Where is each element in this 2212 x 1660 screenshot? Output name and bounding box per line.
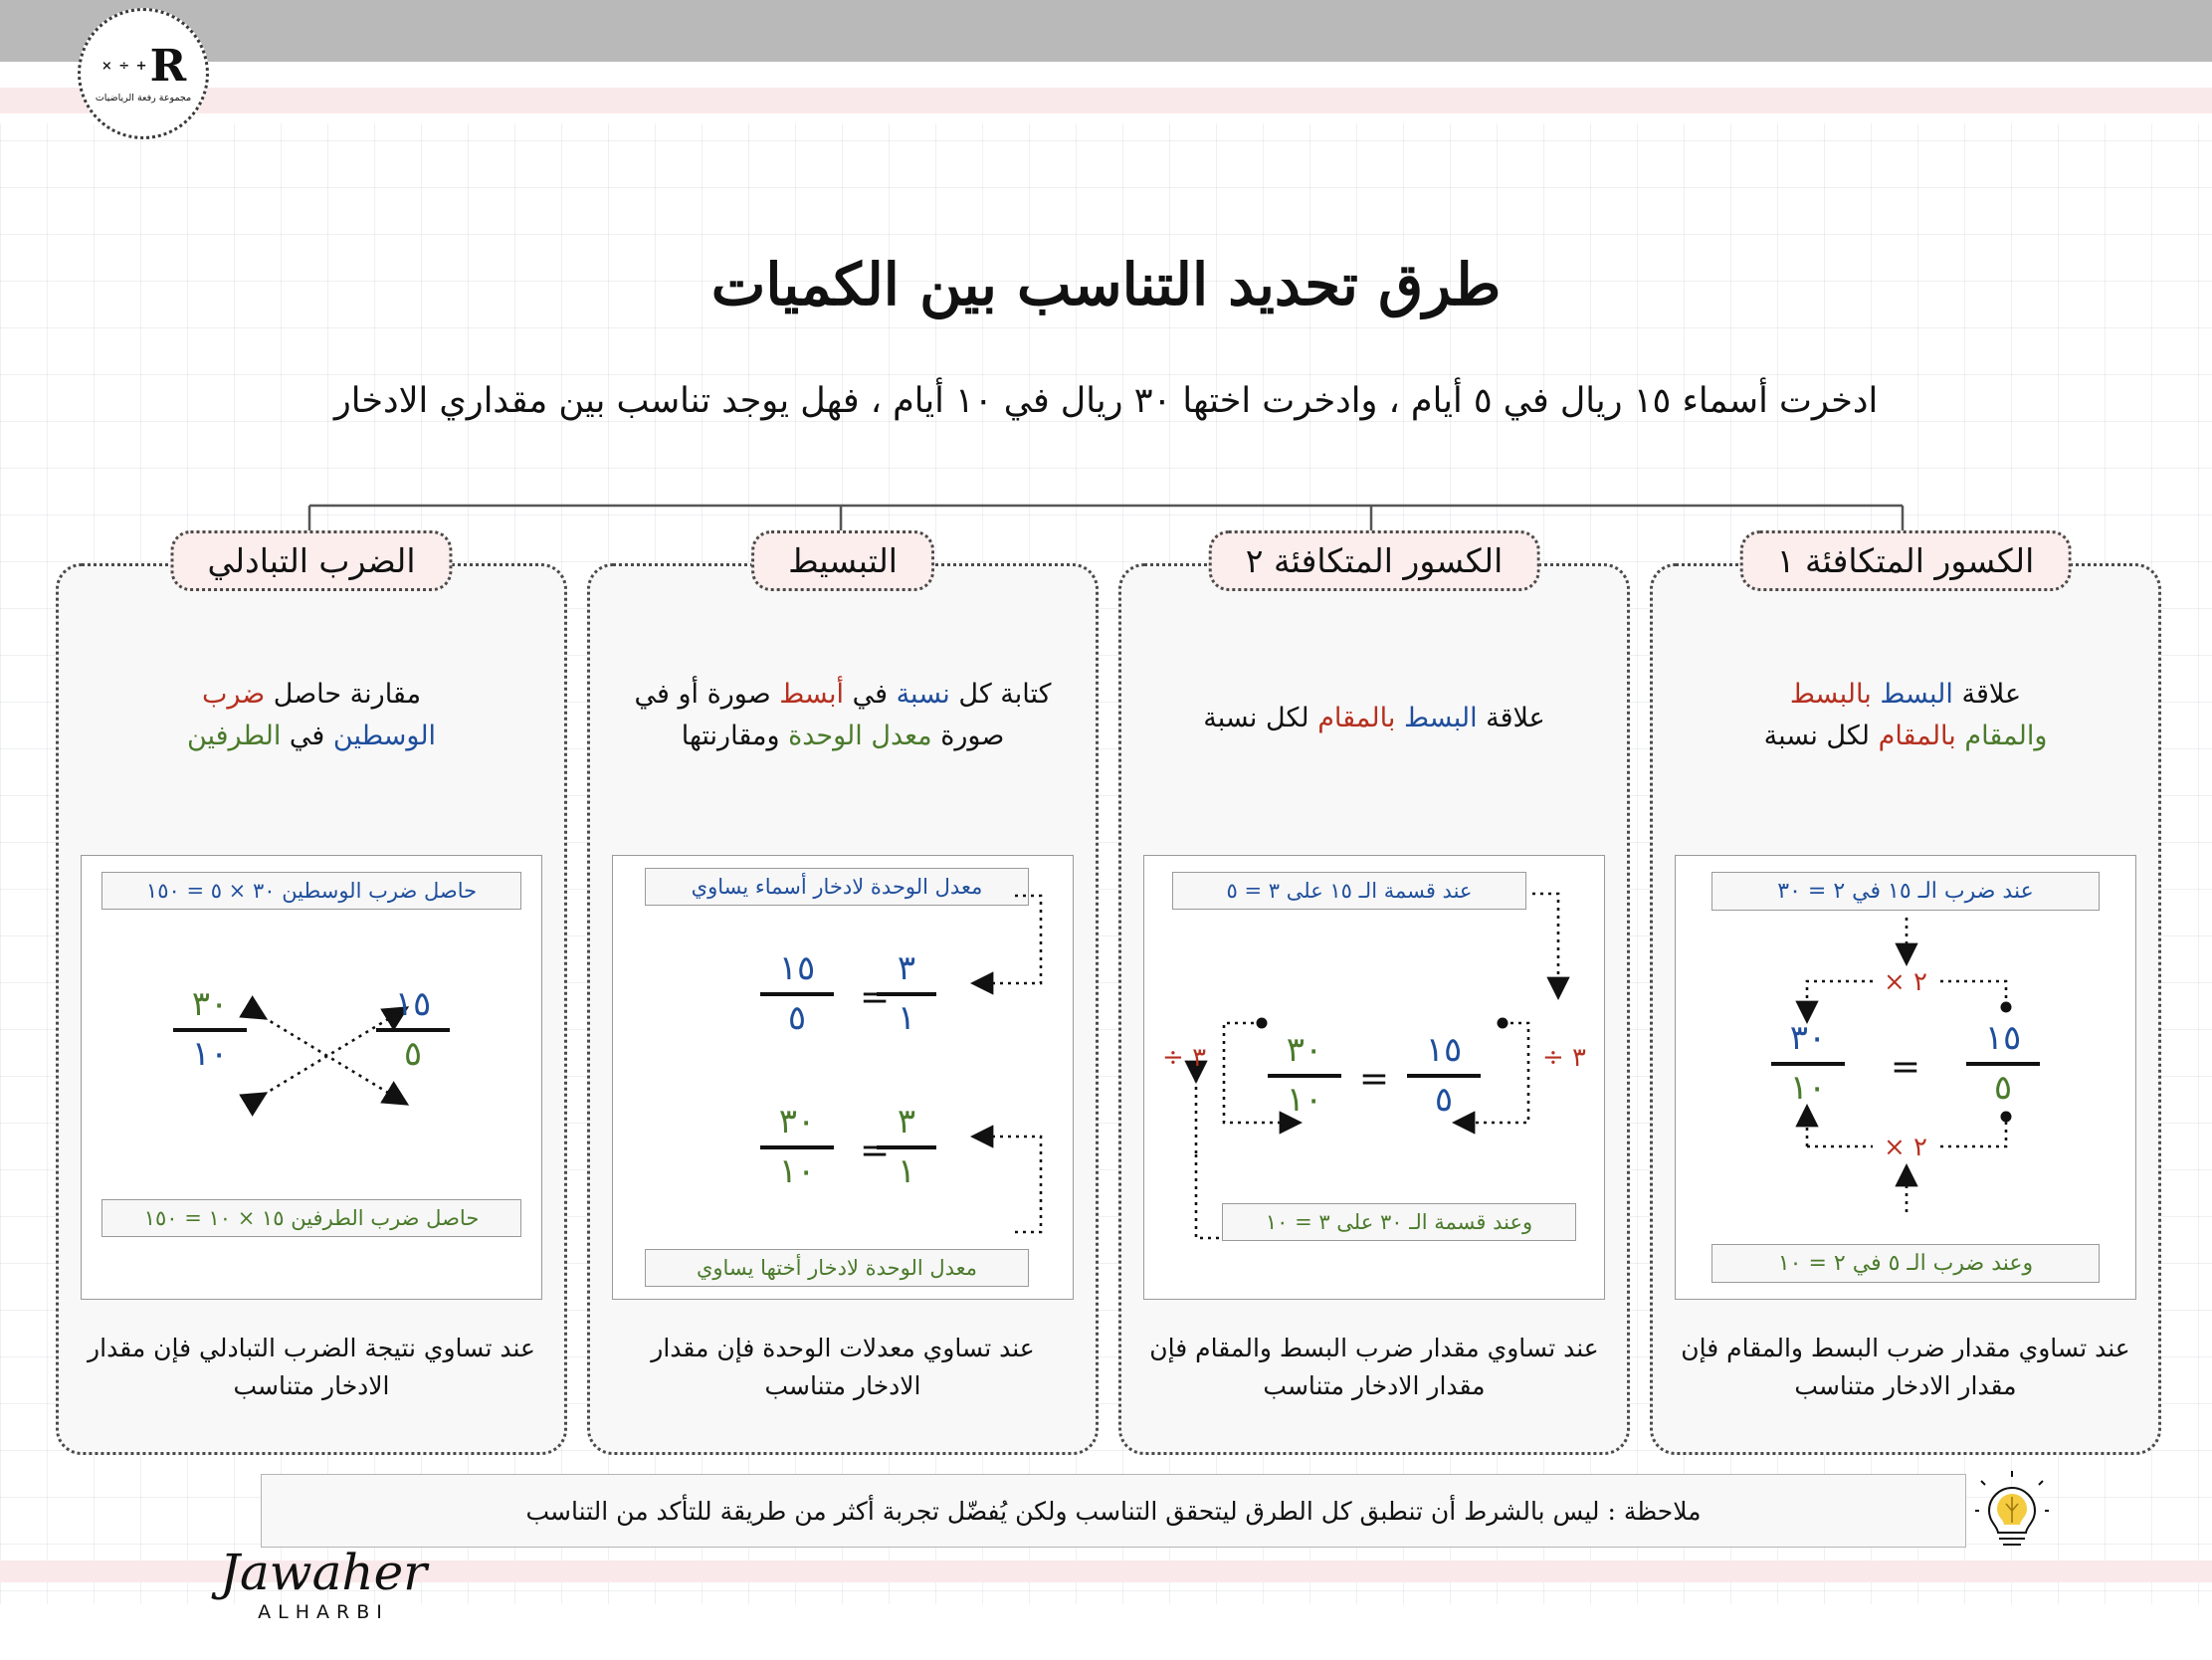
desc-part: لكل نسبة	[1203, 703, 1308, 733]
brand-logo: R + ÷ × مجموعة رفعة الرياضيات	[78, 8, 209, 139]
fraction-bar	[376, 1028, 450, 1032]
denominator: ١٠	[155, 1037, 265, 1073]
numerator: ١٥	[1389, 1033, 1499, 1069]
logo-caption: مجموعة رفعة الرياضيات	[96, 93, 191, 104]
desc-part: كتابة كل	[950, 679, 1052, 710]
signature-name: Jawaher	[174, 1548, 473, 1597]
equals-sign: =	[1359, 1059, 1389, 1100]
numerator: ١٥	[358, 987, 468, 1023]
card-title: التبسيط	[751, 530, 934, 591]
desc-part: أبسط	[771, 679, 844, 710]
card-cross-multiplication[interactable]: الضرب التبادلي مقارنة حاصل ضرب الوسطين ف…	[56, 563, 567, 1455]
numerator: ٣٠	[1753, 1021, 1863, 1057]
desc-part: علاقة	[1478, 703, 1545, 733]
logo-monogram: R + ÷ ×	[101, 45, 185, 89]
card-equivalent-fractions-2[interactable]: الكسور المتكافئة ٢ علاقة البسط بالمقام ل…	[1118, 563, 1630, 1455]
top-grey-bar	[0, 0, 2212, 62]
card-conclusion: عند تساوي مقدار ضرب البسط والمقام فإن مق…	[1677, 1330, 2134, 1404]
numerator: ١٥	[742, 951, 852, 987]
top-pink-bar-spacer	[0, 113, 2212, 123]
numerator: ٣	[862, 1105, 951, 1141]
logo-math-symbols: + ÷ ×	[101, 60, 148, 73]
fraction-bar	[1771, 1062, 1845, 1066]
lightbulb-icon	[1975, 1471, 2049, 1551]
page-title: طرق تحديد التناسب بين الكميات	[0, 251, 2212, 318]
page-subtitle: ادخرت أسماء ١٥ ريال في ٥ أيام ، وادخرت ا…	[0, 381, 2212, 421]
card-description: كتابة كل نسبة في أبسط صورة أو في صورة مع…	[610, 674, 1076, 757]
desc-part: بالمقام	[1870, 721, 1956, 751]
desc-part: لكل نسبة	[1764, 721, 1870, 751]
top-white-bar	[0, 62, 2212, 88]
fraction-bar	[760, 992, 834, 996]
card-title: الكسور المتكافئة ٢	[1209, 530, 1540, 591]
card-description: مقارنة حاصل ضرب الوسطين في الطرفين	[79, 674, 544, 757]
fraction-row1-left: ١٥ ٥	[742, 951, 852, 1036]
note-bar: ملاحظة : ليس بالشرط أن تنطبق كل الطرق لي…	[261, 1474, 1966, 1548]
signature-surname: ALHARBI	[174, 1601, 473, 1623]
denominator: ٥	[1948, 1071, 2058, 1107]
desc-part: مقارنة حاصل	[265, 679, 421, 710]
desc-part: ضرب	[202, 679, 265, 710]
denominator: ١٠	[1250, 1083, 1359, 1119]
card-description: علاقة البسط بالمقام لكل نسبة	[1141, 698, 1607, 739]
desc-part: في	[281, 721, 324, 751]
fraction-bar	[877, 992, 936, 996]
card-diagram: عند ضرب الـ ١٥ في ٢ = ٣٠ × ٢ ٣٠ ١٠ = ١٥	[1675, 855, 2136, 1300]
desc-part: علاقة	[1953, 679, 2021, 710]
card-diagram: حاصل ضرب الوسطين ٣٠ × ٥ = ١٥٠ ٣٠ ١٠ ١٥ ٥…	[81, 855, 542, 1300]
denominator: ١٠	[742, 1154, 852, 1190]
card-equivalent-fractions-1[interactable]: الكسور المتكافئة ١ علاقة البسط بالبسط وا…	[1650, 563, 2161, 1455]
card-description: علاقة البسط بالبسط والمقام بالمقام لكل ن…	[1673, 674, 2138, 757]
fraction-right: ١٥ ٥	[1389, 1033, 1499, 1118]
author-signature: Jawaher ALHARBI	[174, 1548, 473, 1623]
fraction-row2-right: ٣ ١	[862, 1105, 951, 1189]
card-diagram: معدل الوحدة لادخار أسماء يساوي ١٥ ٥ = ٣ …	[612, 855, 1074, 1300]
operation-left: ÷ ٣	[1162, 1043, 1206, 1073]
desc-part: بالمقام	[1309, 703, 1396, 733]
bottom-operation-label: وعند قسمة الـ ٣٠ على ٣ = ١٠	[1222, 1203, 1576, 1241]
operation-right: ÷ ٣	[1542, 1043, 1586, 1073]
desc-part: معدل الوحدة	[779, 721, 931, 751]
desc-part: البسط	[1395, 703, 1477, 733]
desc-part: في	[844, 679, 888, 710]
fraction-right: ١٥ ٥	[358, 987, 468, 1072]
desc-part: البسط	[1872, 679, 1953, 710]
desc-part: والمقام	[1956, 721, 2048, 751]
denominator: ١٠	[1753, 1071, 1863, 1107]
fraction-row1-right: ٣ ١	[862, 951, 951, 1036]
denominator: ١	[862, 1001, 951, 1037]
desc-part: نسبة	[888, 679, 950, 710]
logo-letter: R	[150, 45, 186, 89]
card-conclusion: عند تساوي مقدار ضرب البسط والمقام فإن مق…	[1145, 1330, 1603, 1404]
operation-bottom: × ٢	[1884, 1133, 1927, 1162]
operation-top: × ٢	[1884, 967, 1927, 997]
denominator: ٥	[358, 1037, 468, 1073]
numerator: ٣٠	[742, 1105, 852, 1141]
numerator: ٣٠	[155, 987, 265, 1023]
desc-part: الوسطين	[324, 721, 436, 751]
numerator: ١٥	[1948, 1021, 2058, 1057]
fraction-left: ٣٠ ١٠	[1753, 1021, 1863, 1106]
fraction-bar	[1966, 1062, 2040, 1066]
card-conclusion: عند تساوي نتيجة الضرب التبادلي فإن مقدار…	[83, 1330, 540, 1404]
card-title: الضرب التبادلي	[170, 530, 452, 591]
fraction-left: ٣٠ ١٠	[155, 987, 265, 1072]
fraction-bar	[1407, 1074, 1481, 1078]
fraction-bar	[760, 1145, 834, 1149]
numerator: ٣٠	[1250, 1033, 1359, 1069]
bottom-rate-label: معدل الوحدة لادخار أختها يساوي	[645, 1249, 1029, 1287]
diagram-wires	[613, 856, 1073, 1299]
fraction-row2-left: ٣٠ ١٠	[742, 1105, 852, 1189]
fraction-bar	[173, 1028, 247, 1032]
top-pink-bar	[0, 88, 2212, 113]
fraction-left: ٣٠ ١٠	[1250, 1033, 1359, 1118]
note-text: ملاحظة : ليس بالشرط أن تنطبق كل الطرق لي…	[525, 1497, 1701, 1526]
card-diagram: عند قسمة الـ ١٥ على ٣ = ٥ ÷ ٣ ÷ ٣ ٣٠ ١٠ …	[1143, 855, 1605, 1300]
denominator: ٥	[1389, 1083, 1499, 1119]
bottom-operation-label: وعند ضرب الـ ٥ في ٢ = ١٠	[1711, 1244, 2100, 1283]
card-title: الكسور المتكافئة ١	[1740, 530, 2072, 591]
denominator: ١	[862, 1154, 951, 1190]
equals-sign: =	[1891, 1047, 1920, 1088]
card-conclusion: عند تساوي معدلات الوحدة فإن مقدار الادخا…	[614, 1330, 1072, 1404]
extremes-product-label: حاصل ضرب الطرفين ١٥ × ١٠ = ١٥٠	[101, 1199, 521, 1237]
desc-part: ومقارنتها	[682, 721, 780, 751]
fraction-bar	[877, 1145, 936, 1149]
desc-part: بالبسط	[1790, 679, 1872, 710]
fraction-right: ١٥ ٥	[1948, 1021, 2058, 1106]
numerator: ٣	[862, 951, 951, 987]
fraction-bar	[1268, 1074, 1341, 1078]
desc-part: الطرفين	[187, 721, 281, 751]
denominator: ٥	[742, 1001, 852, 1037]
card-simplification[interactable]: التبسيط كتابة كل نسبة في أبسط صورة أو في…	[587, 563, 1099, 1455]
